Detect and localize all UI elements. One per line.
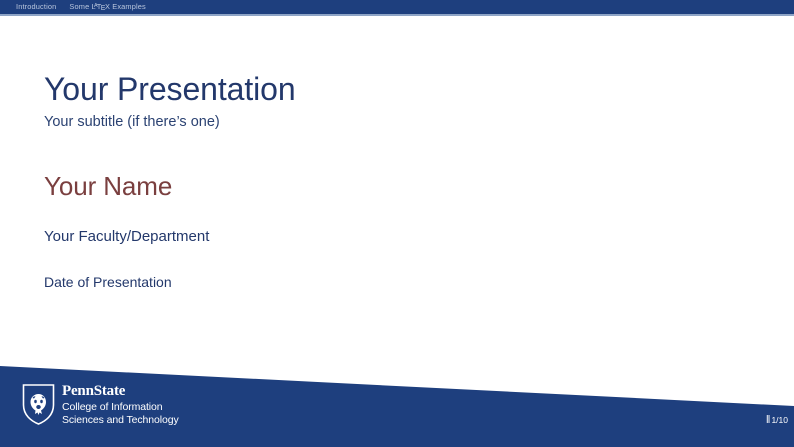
section-navigation-bar: Introduction Some LATEX Examples [0, 0, 794, 14]
nav-item-suffix: Examples [110, 2, 146, 11]
author-affiliation: Your Faculty/Department [44, 227, 209, 247]
college-name-line-2: Sciences and Technology [62, 414, 179, 427]
penn-state-shield-icon [22, 383, 55, 426]
latex-logo: LATEX [92, 0, 110, 15]
penn-state-wordmark: PennState [62, 384, 179, 399]
page-number-text: 1/10 [771, 415, 788, 426]
page-number-bars: ‖ [766, 415, 770, 426]
presentation-subtitle: Your subtitle (if there’s one) [44, 112, 684, 132]
author-name: Your Name [44, 170, 172, 202]
page-number-indicator: ‖ 1/10 [766, 415, 788, 426]
nav-item-introduction[interactable]: Introduction [16, 0, 56, 14]
penn-state-logo-text: PennState College of Information Science… [62, 383, 179, 426]
presentation-date: Date of Presentation [44, 272, 172, 292]
presentation-title: Your Presentation [44, 70, 684, 108]
title-block: Your Presentation Your subtitle (if ther… [44, 70, 684, 132]
footer-band [0, 0, 794, 447]
nav-item-some-latex-examples[interactable]: Some LATEX Examples [69, 0, 145, 15]
penn-state-logo-lockup: PennState College of Information Science… [22, 383, 179, 426]
college-name-line-1: College of Information [62, 401, 179, 414]
navbar-underline [0, 14, 794, 16]
presentation-slide: Introduction Some LATEX Examples Your Pr… [0, 0, 794, 447]
nav-item-prefix: Some [69, 2, 91, 11]
